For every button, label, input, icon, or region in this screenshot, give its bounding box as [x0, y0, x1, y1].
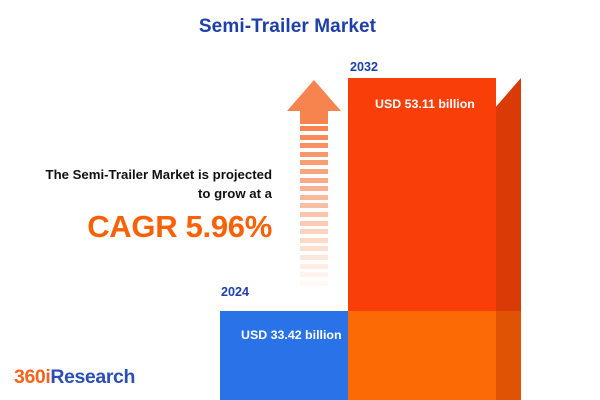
bar-2032-side-face — [494, 109, 521, 311]
bar-2024-year-label: 2024 — [221, 285, 249, 299]
logo-suffix: Research — [50, 366, 135, 388]
bar-2032-front-face — [348, 78, 496, 311]
bar-2032-side-bevel — [494, 78, 521, 109]
arrow-stripe — [300, 169, 328, 174]
arrow-neck — [300, 111, 328, 124]
bar-2032-value-label: USD 53.11 billion — [375, 97, 475, 111]
bar-2032-side-face-lower — [494, 311, 521, 400]
bar-2024-value-label: USD 33.42 billion — [241, 328, 342, 342]
arrow-stripe — [300, 281, 328, 286]
arrow-stripe — [300, 246, 328, 251]
infographic-canvas: Semi-Trailer Market The Semi-Trailer Mar… — [0, 0, 600, 400]
arrow-stripe — [300, 152, 328, 157]
arrow-head-icon — [287, 80, 341, 111]
arrow-stripe — [300, 186, 328, 191]
arrow-stripe — [300, 178, 328, 183]
arrow-stripe — [300, 203, 328, 208]
arrow-shaft — [300, 126, 328, 292]
arrow-stripe — [300, 143, 328, 148]
arrow-stripe — [300, 195, 328, 200]
cagr-lead-line-1: The Semi-Trailer Market is projected — [10, 165, 272, 184]
arrow-stripe — [300, 212, 328, 217]
cagr-lead-line-2: to grow at a — [10, 184, 272, 203]
arrow-stripe — [300, 126, 328, 131]
bar-2032-front-face-lower — [348, 311, 496, 400]
brand-logo[interactable]: 360iResearch — [14, 366, 135, 389]
arrow-stripe — [300, 264, 328, 269]
arrow-stripe — [300, 238, 328, 243]
cagr-annotation: The Semi-Trailer Market is projected to … — [10, 165, 272, 245]
arrow-stripe — [300, 272, 328, 277]
arrow-stripe — [300, 221, 328, 226]
bar-2032-year-label: 2032 — [350, 60, 378, 74]
page-title: Semi-Trailer Market — [0, 16, 575, 38]
logo-prefix: 360i — [14, 366, 50, 388]
cagr-value: CAGR 5.96% — [10, 209, 272, 245]
arrow-stripe — [300, 160, 328, 165]
growth-arrow-icon — [287, 80, 341, 292]
arrow-stripe — [300, 135, 328, 140]
arrow-stripe — [300, 255, 328, 260]
arrow-stripe — [300, 229, 328, 234]
